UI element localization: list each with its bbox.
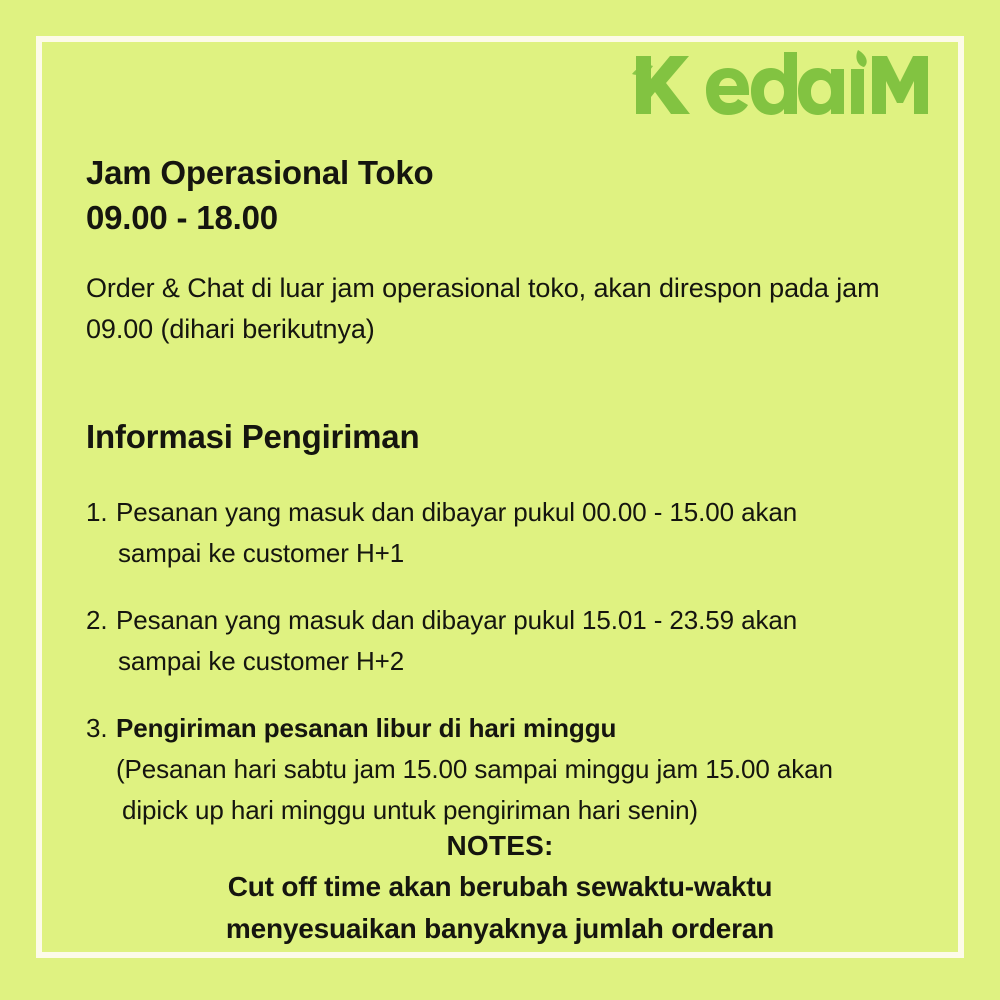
shipping-item-2-line-1: Pesanan yang masuk dan dibayar pukul 15.… <box>116 605 797 635</box>
poster-content: Jam Operasional Toko 09.00 - 18.00 Order… <box>86 150 936 857</box>
shipping-item-1-line-2: sampai ke customer H+1 <box>116 533 936 574</box>
notes-block: NOTES: Cut off time akan berubah sewaktu… <box>0 826 1000 950</box>
shipping-item-1-line-1: Pesanan yang masuk dan dibayar pukul 00.… <box>116 497 797 527</box>
store-hours-note-line-1: Order & Chat di luar jam operasional tok… <box>86 273 829 303</box>
notes-line-2: menyesuaikan banyaknya jumlah orderan <box>0 908 1000 950</box>
shipping-info-title: Informasi Pengiriman <box>86 416 936 458</box>
shipping-item-2-line-2: sampai ke customer H+2 <box>116 641 936 682</box>
kedaimart-logo: KedaiMart <box>632 52 932 122</box>
shipping-list-item-3: 3. Pengiriman pesanan libur di hari ming… <box>86 708 936 831</box>
shipping-list-item-2: 2. Pesanan yang masuk dan dibayar pukul … <box>86 600 936 682</box>
shipping-info-list: 1. Pesanan yang masuk dan dibayar pukul … <box>86 492 936 831</box>
store-hours-value: 09.00 - 18.00 <box>86 195 936 240</box>
store-info-poster: KedaiMart Jam Operasional Toko 09.00 - 1… <box>0 0 1000 1000</box>
notes-line-1: Cut off time akan berubah sewaktu-waktu <box>0 866 1000 908</box>
store-hours-title: Jam Operasional Toko <box>86 150 936 195</box>
shipping-item-2-marker: 2. <box>86 600 107 641</box>
kedaimart-logo-wordmark <box>632 50 932 122</box>
shipping-item-3-line-2: (Pesanan hari sabtu jam 15.00 sampai min… <box>116 749 936 790</box>
notes-title: NOTES: <box>0 826 1000 866</box>
shipping-item-3-marker: 3. <box>86 708 107 749</box>
store-hours-note: Order & Chat di luar jam operasional tok… <box>86 268 946 350</box>
shipping-list-item-1: 1. Pesanan yang masuk dan dibayar pukul … <box>86 492 936 574</box>
shipping-item-3-line-1: Pengiriman pesanan libur di hari minggu <box>116 708 936 749</box>
shipping-item-3-line-3: dipick up hari minggu untuk pengiriman h… <box>116 790 936 831</box>
shipping-item-1-marker: 1. <box>86 492 107 533</box>
